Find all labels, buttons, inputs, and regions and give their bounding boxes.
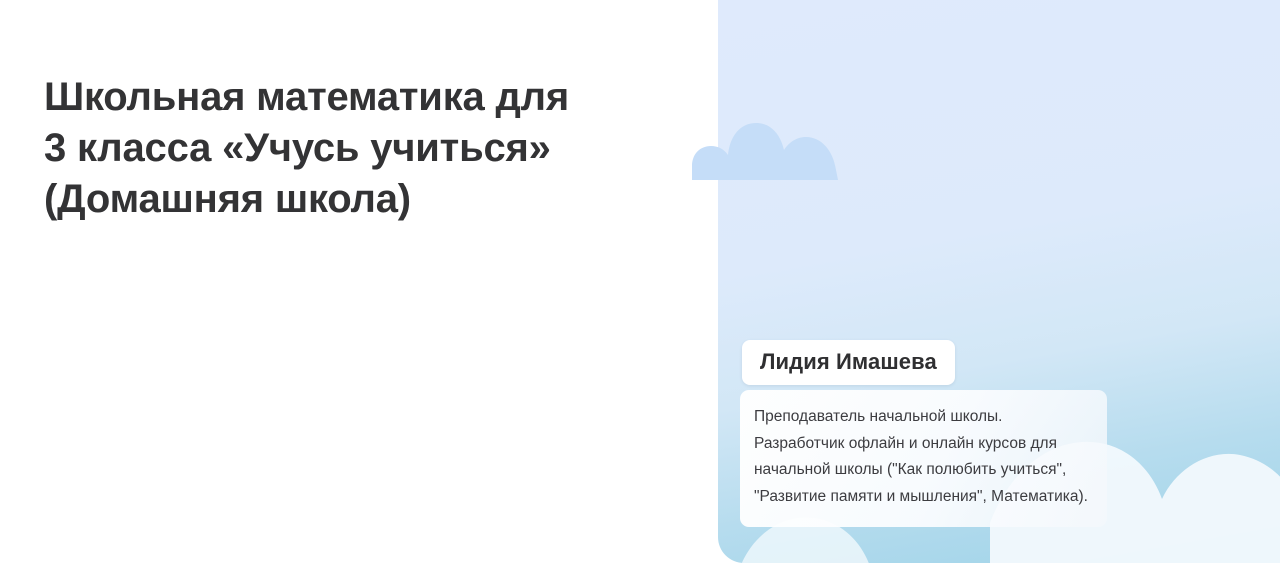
course-hero-banner: Школьная математика для 3 класса «Учусь … <box>0 0 1280 563</box>
instructor-name-badge: Лидия Имашева <box>742 340 955 385</box>
instructor-bio-text: Преподаватель начальной школы. Разработч… <box>754 404 1091 511</box>
title-pane: Школьная математика для 3 класса «Учусь … <box>0 0 718 563</box>
instructor-bio-card: Преподаватель начальной школы. Разработч… <box>740 390 1107 527</box>
page-title: Школьная математика для 3 класса «Учусь … <box>44 72 644 226</box>
